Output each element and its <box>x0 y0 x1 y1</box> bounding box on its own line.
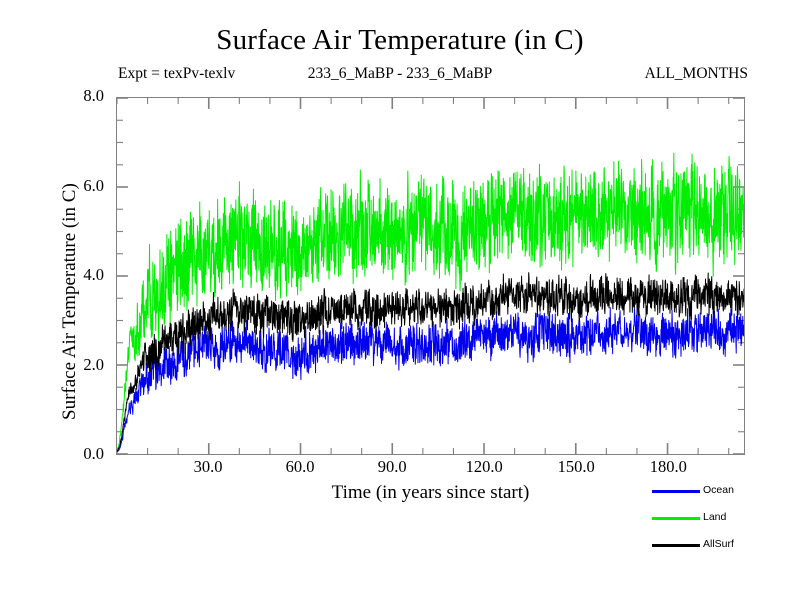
x-tick-label: 180.0 <box>633 459 703 476</box>
y-tick-label: 6.0 <box>52 178 104 195</box>
legend-label: Land <box>703 511 726 524</box>
legend-swatch-land <box>652 517 700 520</box>
x-axis-title: Time (in years since start) <box>116 483 745 502</box>
x-tick-label: 30.0 <box>173 459 243 476</box>
y-tick-label: 2.0 <box>52 357 104 374</box>
months-label: ALL_MONTHS <box>645 66 748 82</box>
y-tick-label: 4.0 <box>52 267 104 284</box>
page-title: Surface Air Temperature (in C) <box>0 26 800 55</box>
x-tick-label: 120.0 <box>449 459 519 476</box>
plot-page: Surface Air Temperature (in C) Expt = te… <box>0 0 800 600</box>
legend-label: Ocean <box>703 484 734 497</box>
y-axis-title: Surface Air Temperature (in C) <box>60 183 79 420</box>
plot-area <box>116 97 745 455</box>
subtitle-row: Expt = texPv-texlv 233_6_MaBP - 233_6_Ma… <box>0 66 800 86</box>
x-tick-label: 150.0 <box>541 459 611 476</box>
y-tick-label: 8.0 <box>52 88 104 105</box>
x-tick-label: 60.0 <box>265 459 335 476</box>
legend-swatch-ocean <box>652 490 700 493</box>
legend-label: AllSurf <box>703 538 734 551</box>
legend-swatch-allsurf <box>652 544 700 547</box>
timeseries-chart <box>117 98 744 454</box>
y-tick-label: 0.0 <box>52 446 104 463</box>
x-tick-label: 90.0 <box>357 459 427 476</box>
